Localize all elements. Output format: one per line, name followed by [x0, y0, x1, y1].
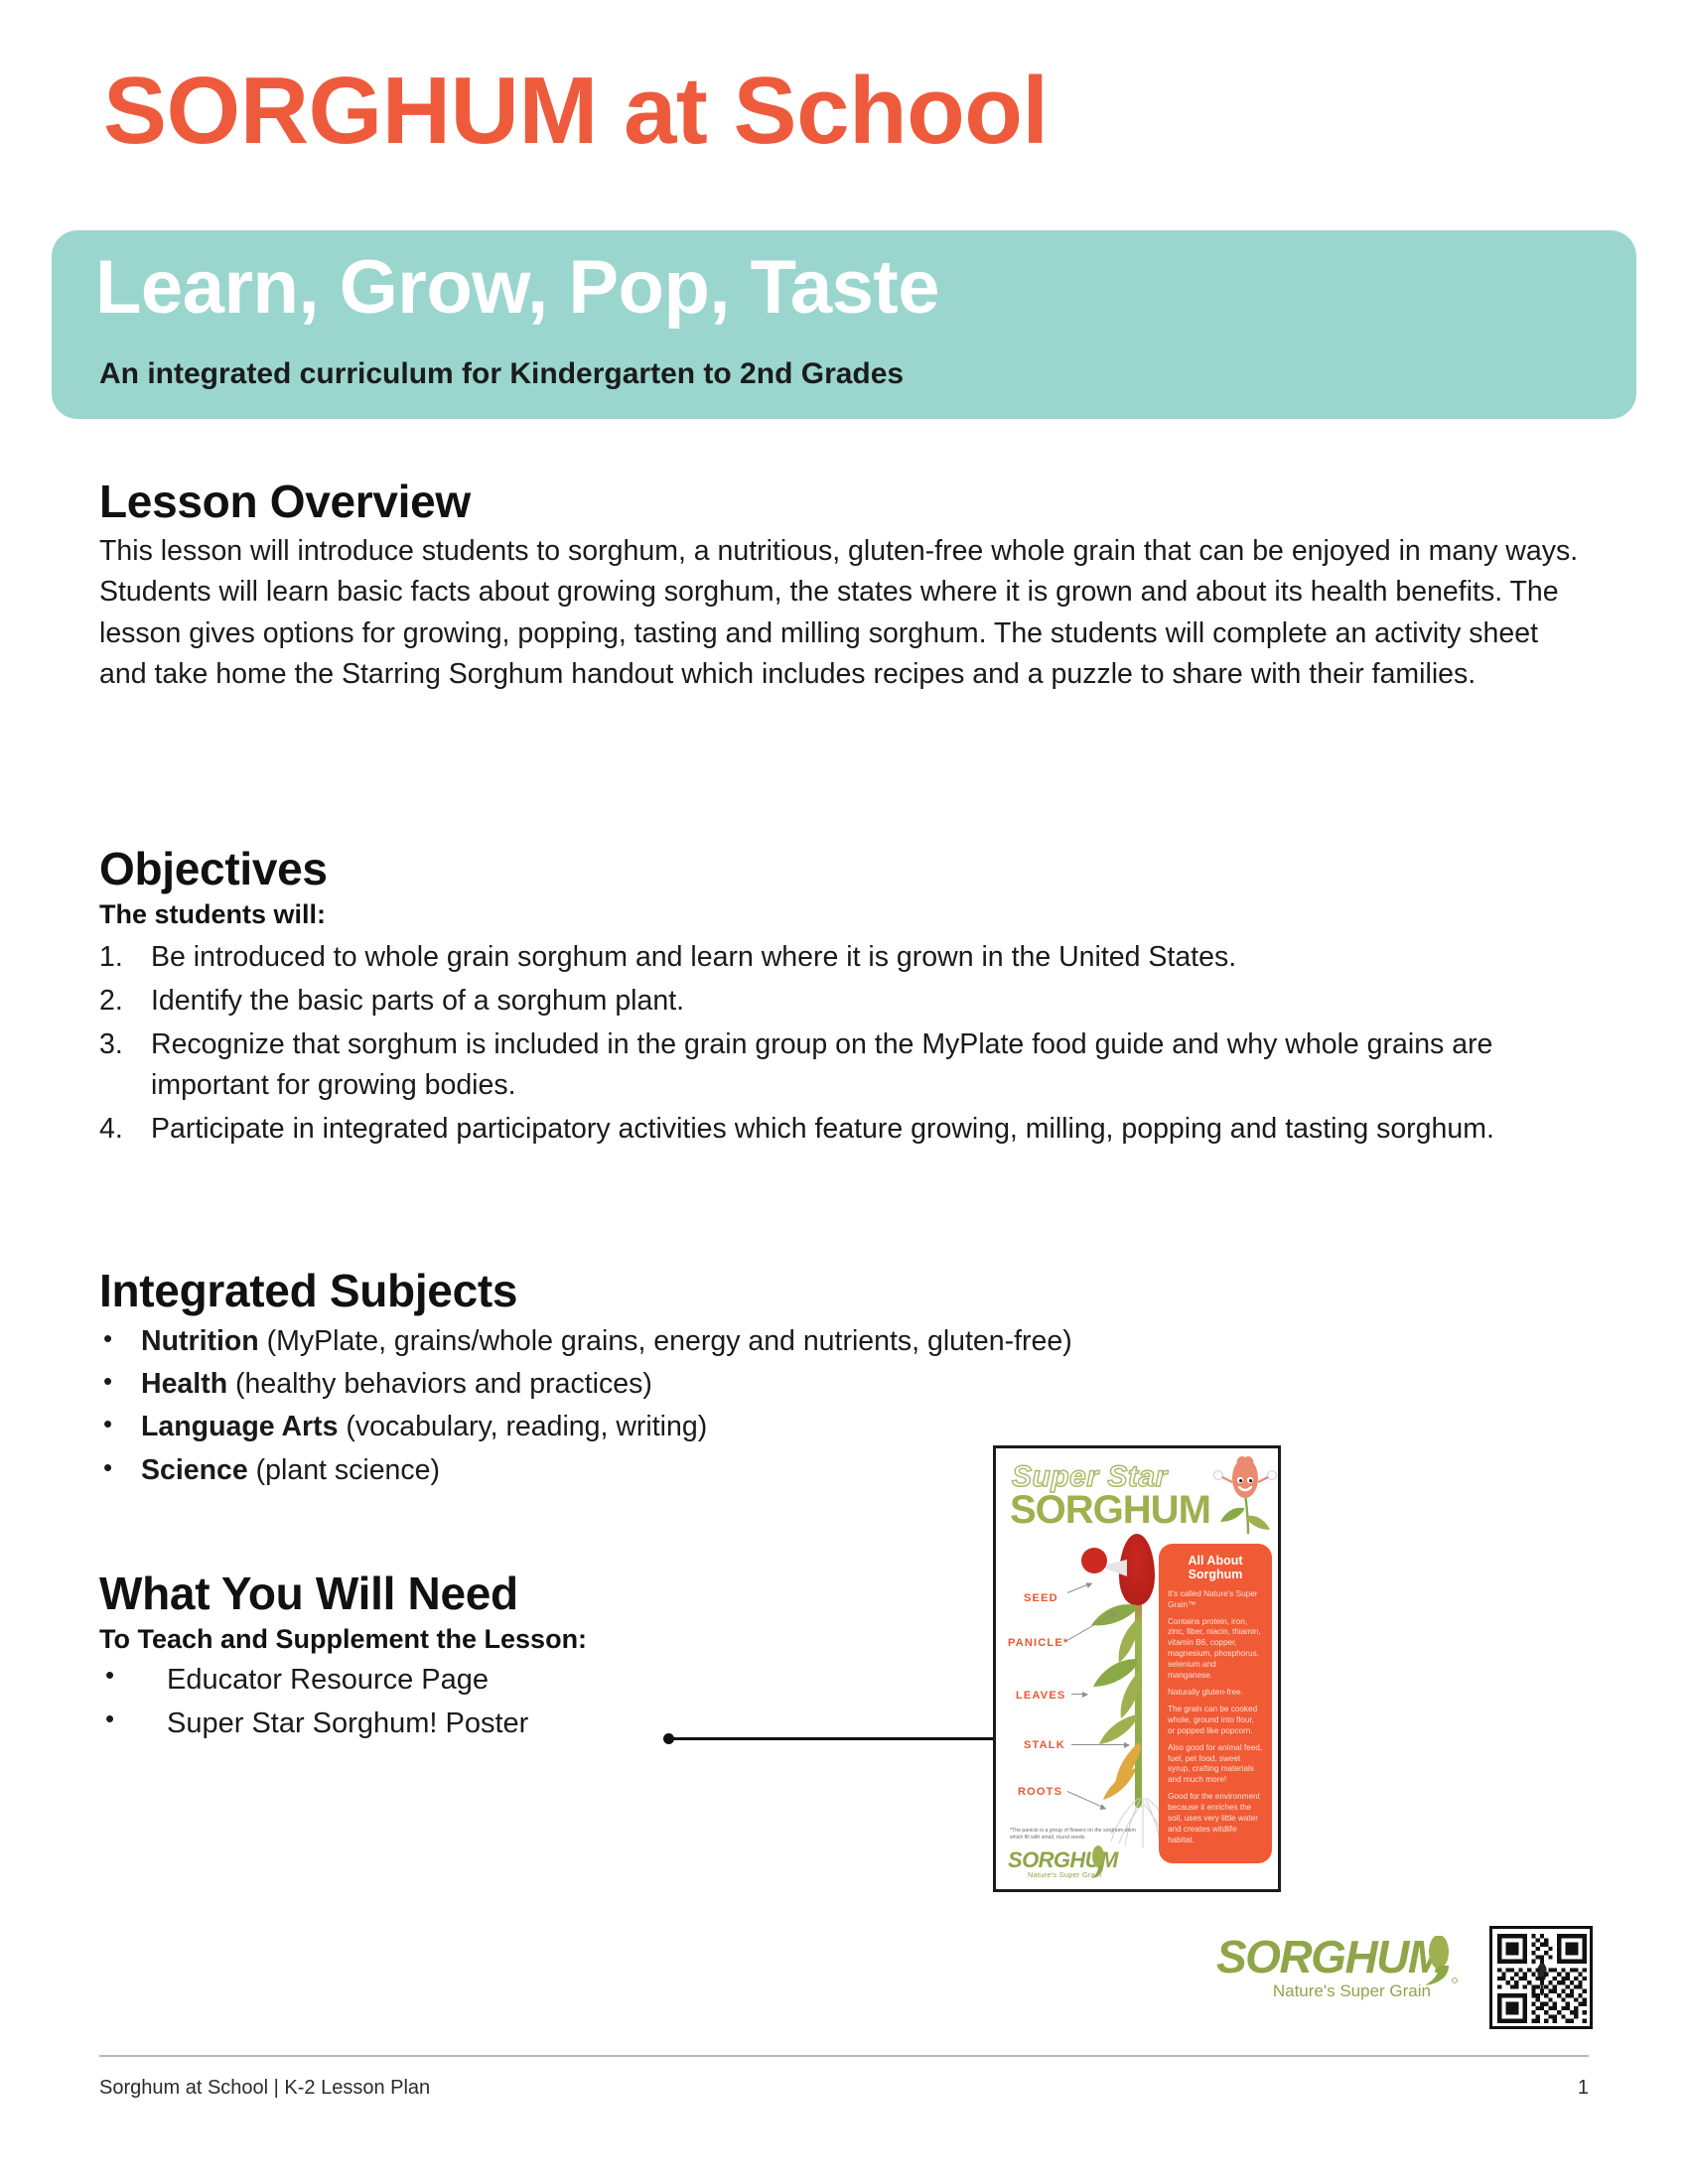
list-item: Health (healthy behaviors and practices): [99, 1363, 1489, 1406]
poster-label-roots: ROOTS: [1018, 1786, 1062, 1798]
qr-code-icon: [1497, 1934, 1587, 2023]
brand-leaf-icon: [1423, 1936, 1461, 1987]
super-star-sorghum-poster: Super Star SORGHUM: [993, 1445, 1281, 1892]
sorghum-leaves-graphic: [1061, 1597, 1161, 1811]
integrated-subjects-list: Nutrition (MyPlate, grains/whole grains,…: [99, 1320, 1489, 1492]
poster-logo-leaf-icon: [1087, 1845, 1109, 1879]
poster-leader-line: [663, 1731, 1001, 1745]
list-item: 1. Be introduced to whole grain sorghum …: [99, 937, 1589, 979]
sorghum-seed-graphic: [1081, 1548, 1107, 1573]
list-number: 1.: [99, 937, 139, 979]
lesson-overview-heading: Lesson Overview: [99, 477, 1589, 527]
subject-name: Nutrition: [141, 1325, 259, 1357]
subject-name: Language Arts: [141, 1411, 338, 1442]
brand-name: SORGHUM: [1216, 1934, 1445, 1979]
list-item: Nutrition (MyPlate, grains/whole grains,…: [99, 1320, 1489, 1363]
callout-paragraph: Contains protein, iron, zinc, fiber, nia…: [1168, 1617, 1263, 1682]
page-title: SORGHUM at School: [103, 62, 1049, 162]
poster-label-seed: SEED: [1024, 1592, 1058, 1604]
what-you-will-need-heading: What You Will Need: [99, 1569, 993, 1619]
list-item: 2. Identify the basic parts of a sorghum…: [99, 981, 1589, 1023]
list-item: Science (plant science): [99, 1449, 1489, 1492]
stalk-arrow-icon: [1071, 1744, 1129, 1745]
poster-label-stalk: STALK: [1024, 1739, 1065, 1751]
list-item: Educator Resource Page: [99, 1658, 993, 1702]
list-text: Identify the basic parts of a sorghum pl…: [151, 985, 684, 1017]
objectives-list: 1. Be introduced to whole grain sorghum …: [99, 937, 1589, 1150]
leaves-arrow-icon: [1071, 1694, 1087, 1695]
list-number: 2.: [99, 981, 139, 1023]
lesson-overview-text: This lesson will introduce students to s…: [99, 531, 1589, 696]
list-item: 4. Participate in integrated participato…: [99, 1109, 1589, 1151]
list-number: 4.: [99, 1109, 139, 1151]
objectives-heading: Objectives: [99, 844, 1589, 894]
footer-divider: [99, 2055, 1589, 2057]
callout-paragraph: Also good for animal feed, fuel, pet foo…: [1168, 1743, 1263, 1787]
integrated-subjects-section: Integrated Subjects Nutrition (MyPlate, …: [99, 1266, 1489, 1492]
qr-code[interactable]: [1489, 1926, 1593, 2029]
subject-detail: (healthy behaviors and practices): [227, 1368, 652, 1400]
lesson-plan-page: SORGHUM at School Learn, Grow, Pop, Tast…: [0, 0, 1688, 2184]
lesson-overview-section: Lesson Overview This lesson will introdu…: [99, 477, 1589, 696]
integrated-subjects-heading: Integrated Subjects: [99, 1266, 1489, 1316]
brand-tagline: Nature's Super Grain: [1216, 1981, 1445, 2001]
callout-paragraph: The grain can be cooked whole, ground in…: [1168, 1705, 1263, 1737]
callout-paragraph: Naturally gluten-free.: [1168, 1688, 1263, 1699]
what-you-will-need-section: What You Will Need To Teach and Suppleme…: [99, 1569, 993, 1746]
callout-heading: All About Sorghum: [1168, 1554, 1263, 1582]
subject-name: Health: [141, 1368, 227, 1400]
list-item: 3. Recognize that sorghum is included in…: [99, 1024, 1589, 1107]
subject-detail: (vocabulary, reading, writing): [338, 1411, 707, 1442]
page-number: 1: [1559, 2077, 1589, 2100]
subject-detail: (plant science): [248, 1454, 440, 1486]
leader-line: [671, 1737, 1001, 1740]
poster-footnote: *The panicle is a group of flowers on th…: [1010, 1828, 1139, 1842]
poster-label-panicle: PANICLE*: [1008, 1637, 1068, 1649]
banner-subtitle: An integrated curriculum for Kindergarte…: [99, 357, 904, 391]
list-number: 3.: [99, 1024, 139, 1066]
poster-label-leaves: LEAVES: [1016, 1690, 1065, 1702]
what-you-will-need-subheading: To Teach and Supplement the Lesson:: [99, 1623, 993, 1657]
subject-name: Science: [141, 1454, 248, 1486]
list-item: Language Arts (vocabulary, reading, writ…: [99, 1406, 1489, 1448]
footer-text: Sorghum at School | K-2 Lesson Plan: [99, 2077, 430, 2100]
sorghum-mascot-icon: [1208, 1456, 1278, 1542]
list-text: Be introduced to whole grain sorghum and…: [151, 941, 1236, 973]
list-text: Participate in integrated participatory …: [151, 1113, 1494, 1145]
objectives-section: Objectives The students will: 1. Be intr…: [99, 844, 1589, 1152]
banner-title: Learn, Grow, Pop, Taste: [95, 248, 939, 328]
seed-arrow-icon: [1067, 1582, 1091, 1593]
callout-paragraph: Good for the environment because it enri…: [1168, 1792, 1263, 1846]
all-about-sorghum-callout: All About Sorghum It's called Nature's S…: [1159, 1544, 1272, 1863]
objectives-subheading: The students will:: [99, 898, 1589, 932]
subject-detail: (MyPlate, grains/whole grains, energy an…: [259, 1325, 1072, 1357]
list-text: Recognize that sorghum is included in th…: [151, 1028, 1492, 1102]
poster-bold-title: SORGHUM: [1010, 1490, 1210, 1530]
callout-paragraph: It's called Nature's Super Grain™: [1168, 1589, 1263, 1611]
sorghum-brand-logo: SORGHUM Nature's Super Grain: [1216, 1934, 1445, 2001]
